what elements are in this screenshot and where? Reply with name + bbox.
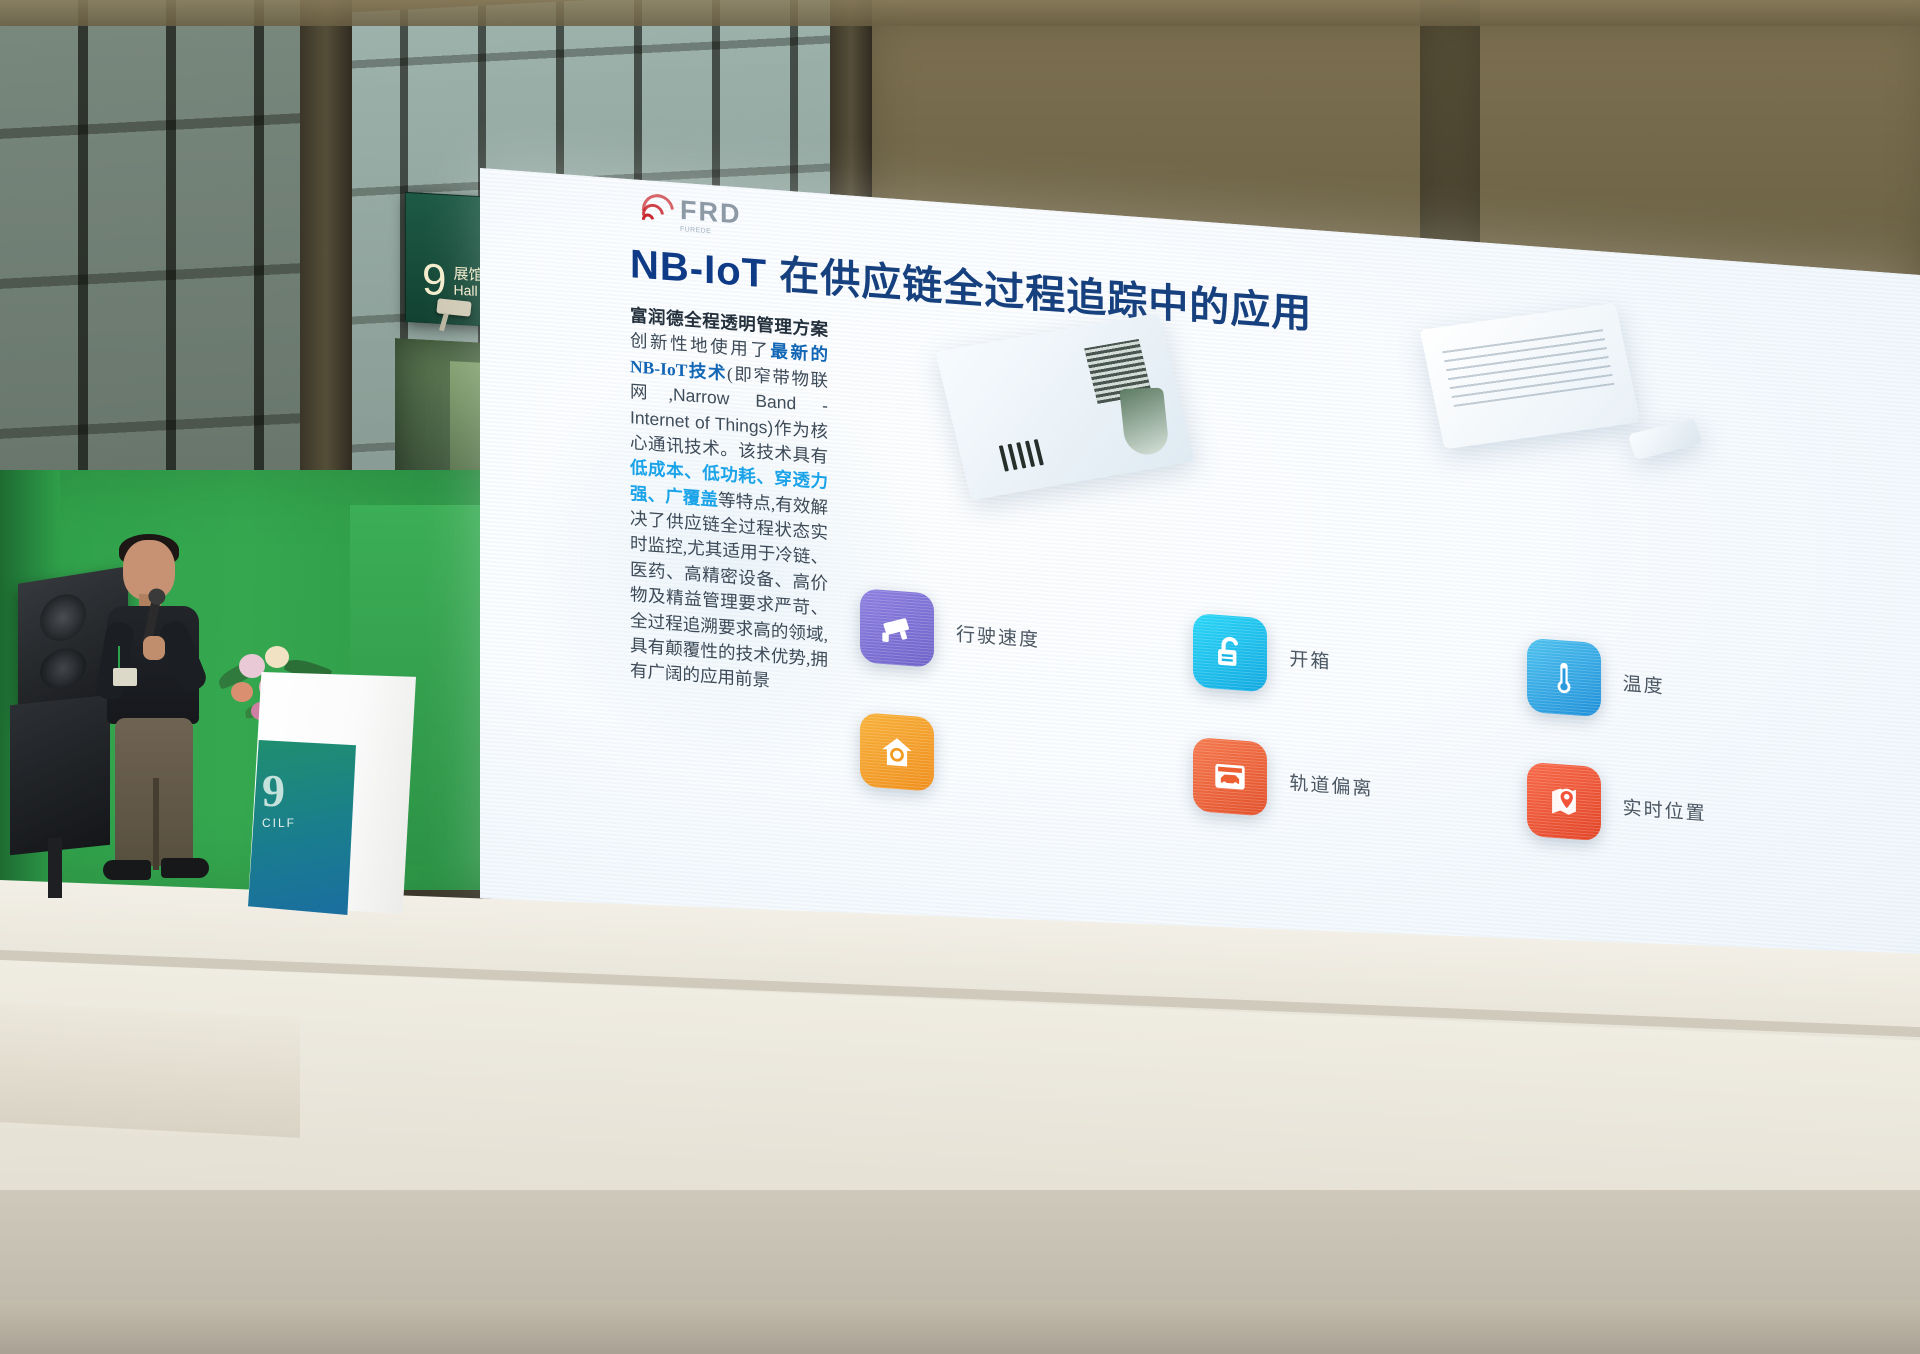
device-photo-group bbox=[870, 247, 1880, 622]
feature-item-route: 轨道偏离 bbox=[1193, 737, 1526, 836]
thermometer-icon bbox=[1527, 638, 1601, 717]
ceiling-beam bbox=[0, 0, 1920, 26]
speaker-cone-lower bbox=[40, 645, 86, 692]
hall-floor-foreground bbox=[0, 1300, 1920, 1354]
feature-item-location: 实时位置 bbox=[1527, 762, 1860, 861]
podium-logo-number: 9 bbox=[262, 768, 346, 814]
feature-item-unlock: 开箱 bbox=[1193, 613, 1526, 712]
feature-icon-grid: 行驶速度 开箱 bbox=[860, 588, 1860, 860]
slide-content: FRD FUREDE NB-IoT 在供应链全过程追踪中的应用 富润德全程透明管… bbox=[480, 168, 1920, 1005]
frd-logo: FRD FUREDE bbox=[640, 194, 742, 238]
presenter-shoe-left bbox=[103, 860, 151, 880]
presenter-shoe-right bbox=[161, 858, 209, 878]
feature-label-temperature: 温度 bbox=[1623, 668, 1665, 698]
feature-label-unlock: 开箱 bbox=[1289, 644, 1331, 674]
body-seg-1: 创新性地使用了 bbox=[630, 331, 770, 361]
presenter-leg-split bbox=[153, 778, 159, 870]
feature-item-temperature: 温度 bbox=[1527, 638, 1860, 737]
hall-number: 9 bbox=[422, 258, 446, 303]
speed-camera-icon bbox=[860, 588, 934, 667]
frd-signal-icon bbox=[640, 197, 674, 230]
slide-title-en: NB-IoT bbox=[630, 242, 767, 296]
truck-route-icon bbox=[1193, 737, 1267, 816]
slide-body-paragraph: 富润德全程透明管理方案创新性地使用了最新的NB-IoT技术(即窄带物联网,Nar… bbox=[630, 303, 828, 698]
map-pin-icon bbox=[1527, 762, 1601, 841]
pa-speaker-stand bbox=[48, 838, 62, 898]
feature-item-speed: 行驶速度 bbox=[860, 588, 1193, 687]
feature-item-warehouse bbox=[860, 712, 1193, 811]
sensor-probe bbox=[1119, 388, 1170, 455]
conference-photo-scene: 安全 出口 9 展馆 Hall 3 号门 Gate bbox=[0, 0, 1920, 1354]
feature-label-speed: 行驶速度 bbox=[956, 619, 1040, 652]
frd-logo-name: FRD bbox=[680, 197, 742, 229]
small-tag-device bbox=[1628, 418, 1703, 460]
hall-label-en: Hall bbox=[453, 282, 483, 298]
podium-logo: 9 CILF bbox=[262, 768, 346, 838]
body-seg-7: 等特点,有效解决了供应链全过程状态实时监控,尤其适用于冷链、医药、高精密设备、高… bbox=[630, 489, 828, 690]
nbiot-sensor-device bbox=[935, 313, 1194, 500]
speaker-cone-upper bbox=[40, 591, 86, 644]
led-presentation-screen: FRD FUREDE NB-IoT 在供应链全过程追踪中的应用 富润德全程透明管… bbox=[480, 168, 1920, 1005]
feature-label-route: 轨道偏离 bbox=[1289, 768, 1373, 801]
device-label-lines bbox=[1441, 325, 1614, 407]
warehouse-home-icon bbox=[860, 712, 934, 791]
connector-pins bbox=[999, 439, 1044, 471]
stage-riser-left bbox=[0, 1002, 300, 1138]
presenter-hand bbox=[143, 636, 165, 660]
presenter-badge bbox=[113, 668, 137, 686]
feature-label-location: 实时位置 bbox=[1623, 792, 1707, 825]
podium-logo-text: CILF bbox=[262, 816, 346, 830]
nbiot-tag-device bbox=[1420, 303, 1641, 449]
unlock-icon bbox=[1193, 613, 1267, 692]
